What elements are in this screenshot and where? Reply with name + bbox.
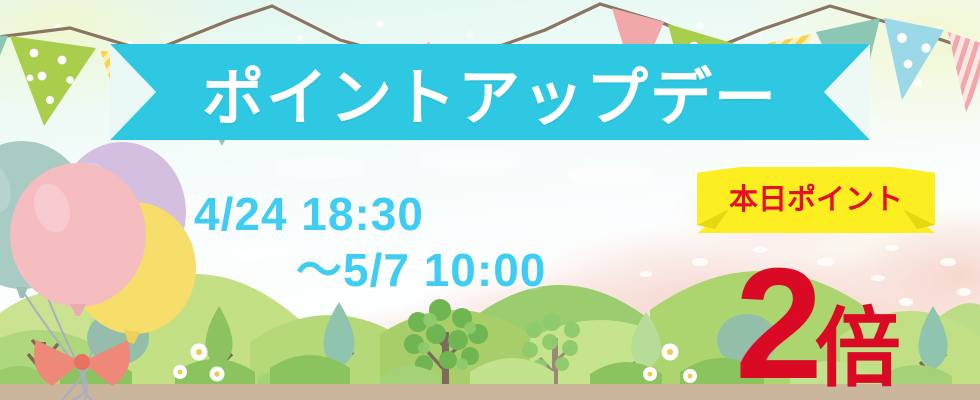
today-points-badge: 本日ポイント bbox=[697, 167, 935, 233]
balloon-bow bbox=[34, 340, 130, 386]
multiplier-unit: 倍 bbox=[815, 313, 901, 393]
today-points-label: 本日ポイント bbox=[697, 167, 935, 233]
event-period: 4/24 18:30 ～5/7 10:00 bbox=[120, 186, 700, 298]
event-start-datetime: 4/24 18:30 bbox=[120, 186, 700, 242]
event-end-datetime: ～5/7 10:00 bbox=[120, 242, 700, 298]
title-ribbon: ポイントアップデー bbox=[110, 44, 870, 140]
points-multiplier: 2 倍 bbox=[735, 238, 975, 393]
banner-title: ポイントアップデー bbox=[110, 44, 870, 140]
point-up-day-banner: 本日ポイント 2 倍 ポイントアップデー 4/24 18:30 ～5/7 10:… bbox=[0, 0, 980, 400]
multiplier-number: 2 bbox=[735, 257, 819, 393]
